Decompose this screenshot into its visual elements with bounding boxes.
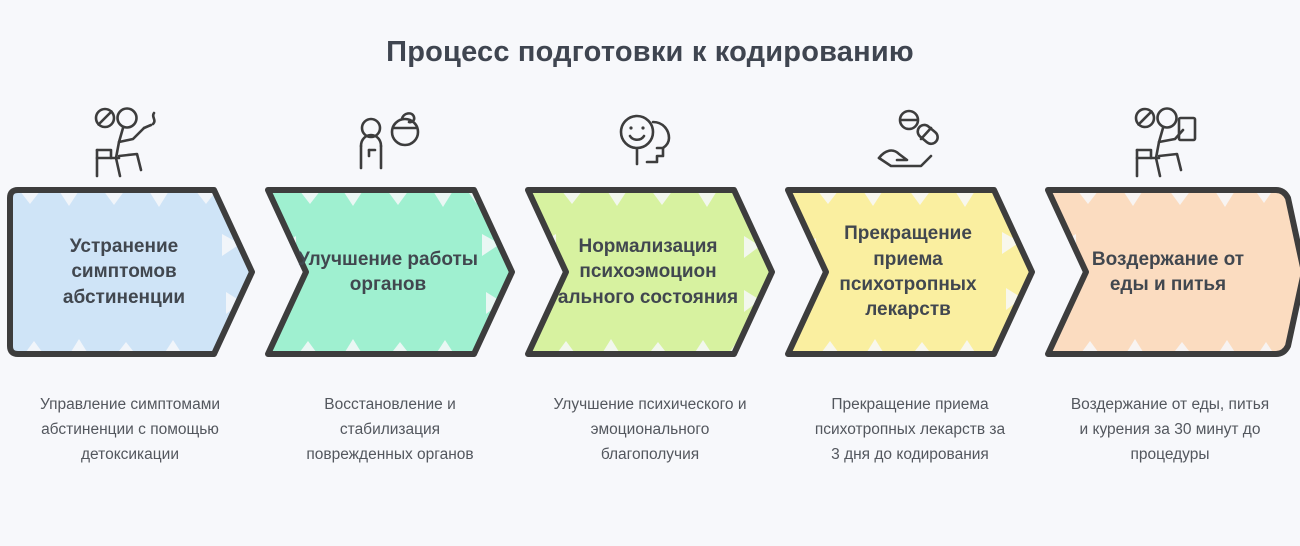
step-caption-5: Воздержание от еды, питья и курения за 3… [1040, 392, 1300, 467]
chevron-shape-4[interactable]: Прекращение приема психотропных лекарств [780, 184, 1040, 360]
process-step-1[interactable]: Устранение симптомов абстиненции [0, 104, 260, 394]
page-title: Процесс подготовки к кодированию [0, 36, 1300, 69]
process-step-3[interactable]: Нормализация психоэмоцион ального состоя… [520, 104, 780, 394]
process-steps-row: Устранение симптомов абстиненции [0, 104, 1300, 394]
no-smoking-person-icon [89, 104, 171, 180]
step-caption-3: Улучшение психического и эмоционального … [520, 392, 780, 467]
captions-row: Управление симптомами абстиненции с помо… [0, 392, 1300, 467]
hand-pills-icon [869, 104, 951, 180]
process-step-2[interactable]: Улучшение работы органов [260, 104, 520, 394]
person-organs-icon [349, 104, 431, 180]
chevron-shape-5[interactable]: Воздержание от еды и питья [1040, 184, 1300, 360]
chevron-shape-3[interactable]: Нормализация психоэмоцион ального состоя… [520, 184, 780, 360]
head-smiley-icon [609, 104, 691, 180]
chevron-shape-2[interactable]: Улучшение работы органов [260, 184, 520, 360]
step-caption-4: Прекращение приема психотропных лекарств… [780, 392, 1040, 467]
chevron-shape-1[interactable]: Устранение симптомов абстиненции [0, 184, 260, 360]
no-eating-person-icon [1129, 104, 1211, 180]
step-caption-2: Восстановление и стабилизация поврежденн… [260, 392, 520, 467]
process-step-5[interactable]: Воздержание от еды и питья [1040, 104, 1300, 394]
step-caption-1: Управление симптомами абстиненции с помо… [0, 392, 260, 467]
process-step-4[interactable]: Прекращение приема психотропных лекарств [780, 104, 1040, 394]
